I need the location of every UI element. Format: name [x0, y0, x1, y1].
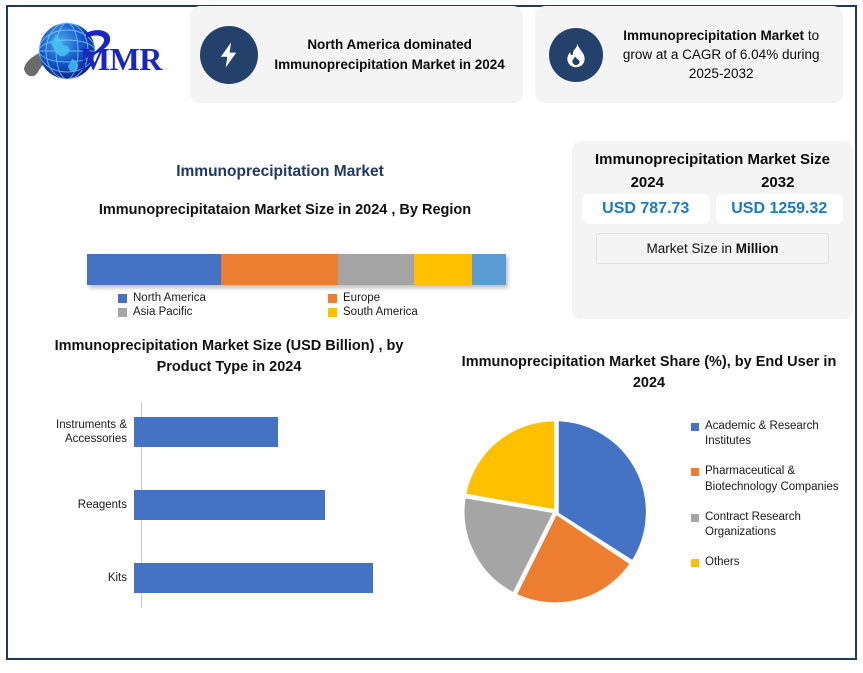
- product-type-chart-title: Immunoprecipitation Market Size (USD Bil…: [29, 336, 429, 378]
- market-size-years: 2024 2032: [582, 174, 843, 191]
- legend-label: Contract Research Organizations: [705, 510, 856, 540]
- market-size-values: USD 787.73 USD 1259.32: [582, 194, 843, 224]
- end-user-chart-legend: Academic & Research Institutes Pharmaceu…: [691, 419, 856, 570]
- legend-swatch-icon: [118, 294, 127, 303]
- stack-segment-asia-pacific: [338, 254, 413, 285]
- header-bar: MMR North America dominated Immunoprecip…: [8, 6, 843, 111]
- product-type-chart-section: Immunoprecipitation Market Size (USD Bil…: [14, 336, 444, 617]
- stack-segment-europe: [221, 254, 338, 285]
- bar-label: Kits: [14, 571, 134, 585]
- brand-name: MMR: [80, 41, 162, 78]
- legend-swatch-icon: [691, 514, 699, 522]
- end-user-chart-section: Immunoprecipitation Market Share (%), by…: [448, 352, 858, 624]
- market-size-value-end: USD 1259.32: [716, 194, 844, 224]
- product-type-plot-area: Instruments & Accessories Reagents Kits: [14, 402, 444, 617]
- legend-item-south-america: South America: [328, 306, 518, 318]
- legend-item-pharmaceutical: Pharmaceutical & Biotechnology Companies: [691, 464, 856, 494]
- page-title: Immunoprecipitation Market: [0, 163, 560, 181]
- brand-logo: MMR: [8, 6, 186, 102]
- legend-swatch-icon: [118, 308, 127, 317]
- bar-instruments-accessories: [134, 417, 278, 447]
- bar-reagents: [134, 490, 325, 520]
- legend-item-asia-pacific: Asia Pacific: [118, 306, 328, 318]
- legend-swatch-icon: [328, 308, 337, 317]
- legend-label: North America: [133, 292, 206, 304]
- bar-row-kits: Kits: [14, 561, 444, 595]
- legend-item-others: Others: [691, 555, 856, 570]
- market-size-unit: Market Size in Million: [596, 233, 829, 264]
- pie-slice-others: [465, 420, 556, 511]
- legend-item-europe: Europe: [328, 292, 518, 304]
- bar-kits: [134, 563, 373, 593]
- legend-label: South America: [343, 306, 418, 318]
- header-card-cagr-text: Immunoprecipitation Market to grow at a …: [609, 26, 833, 83]
- legend-swatch-icon: [691, 423, 699, 431]
- header-card-cagr: Immunoprecipitation Market to grow at a …: [535, 6, 843, 103]
- stack-segment-south-america: [414, 254, 473, 285]
- legend-item-academic: Academic & Research Institutes: [691, 419, 856, 449]
- legend-label: Asia Pacific: [133, 306, 192, 318]
- region-stacked-bar: [87, 254, 506, 285]
- market-size-value-start: USD 787.73: [582, 194, 710, 224]
- region-chart-section: Immunoprecipitataion Market Size in 2024…: [30, 200, 540, 221]
- lightning-bolt-icon: [200, 26, 258, 84]
- stack-segment-other: [472, 254, 506, 285]
- bar-label: Reagents: [14, 498, 134, 512]
- market-size-unit-bold: Million: [736, 241, 779, 256]
- legend-swatch-icon: [328, 294, 337, 303]
- legend-label: Pharmaceutical & Biotechnology Companies: [705, 464, 856, 494]
- end-user-plot-area: Academic & Research Institutes Pharmaceu…: [448, 414, 858, 624]
- region-chart-legend: North America Europe Asia Pacific South …: [118, 292, 518, 318]
- market-size-panel: Immunoprecipitation Market Size 2024 203…: [572, 141, 853, 319]
- legend-swatch-icon: [691, 468, 699, 476]
- market-size-year-end: 2032: [713, 174, 844, 191]
- header-card-cagr-bold: Immunoprecipitation Market: [623, 28, 804, 43]
- bar-row-instruments: Instruments & Accessories: [14, 415, 444, 449]
- infographic-page: MMR North America dominated Immunoprecip…: [0, 0, 863, 673]
- stack-segment-north-america: [87, 254, 221, 285]
- market-size-unit-prefix: Market Size in: [646, 241, 735, 256]
- flame-icon: [549, 28, 603, 82]
- legend-swatch-icon: [691, 559, 699, 567]
- bar-row-reagents: Reagents: [14, 488, 444, 522]
- end-user-chart-title: Immunoprecipitation Market Share (%), by…: [448, 352, 850, 394]
- end-user-pie: [461, 416, 651, 608]
- legend-label: Others: [705, 555, 740, 570]
- header-card-region-text: North America dominated Immunoprecipitat…: [266, 35, 514, 73]
- market-size-title: Immunoprecipitation Market Size: [582, 149, 843, 170]
- region-chart-title: Immunoprecipitataion Market Size in 2024…: [50, 200, 520, 221]
- legend-item-north-america: North America: [118, 292, 328, 304]
- legend-item-contract-research: Contract Research Organizations: [691, 510, 856, 540]
- market-size-year-start: 2024: [582, 174, 713, 191]
- bar-label: Instruments & Accessories: [14, 418, 134, 447]
- header-card-region-dominance: North America dominated Immunoprecipitat…: [190, 6, 524, 103]
- legend-label: Academic & Research Institutes: [705, 419, 856, 449]
- legend-label: Europe: [343, 292, 380, 304]
